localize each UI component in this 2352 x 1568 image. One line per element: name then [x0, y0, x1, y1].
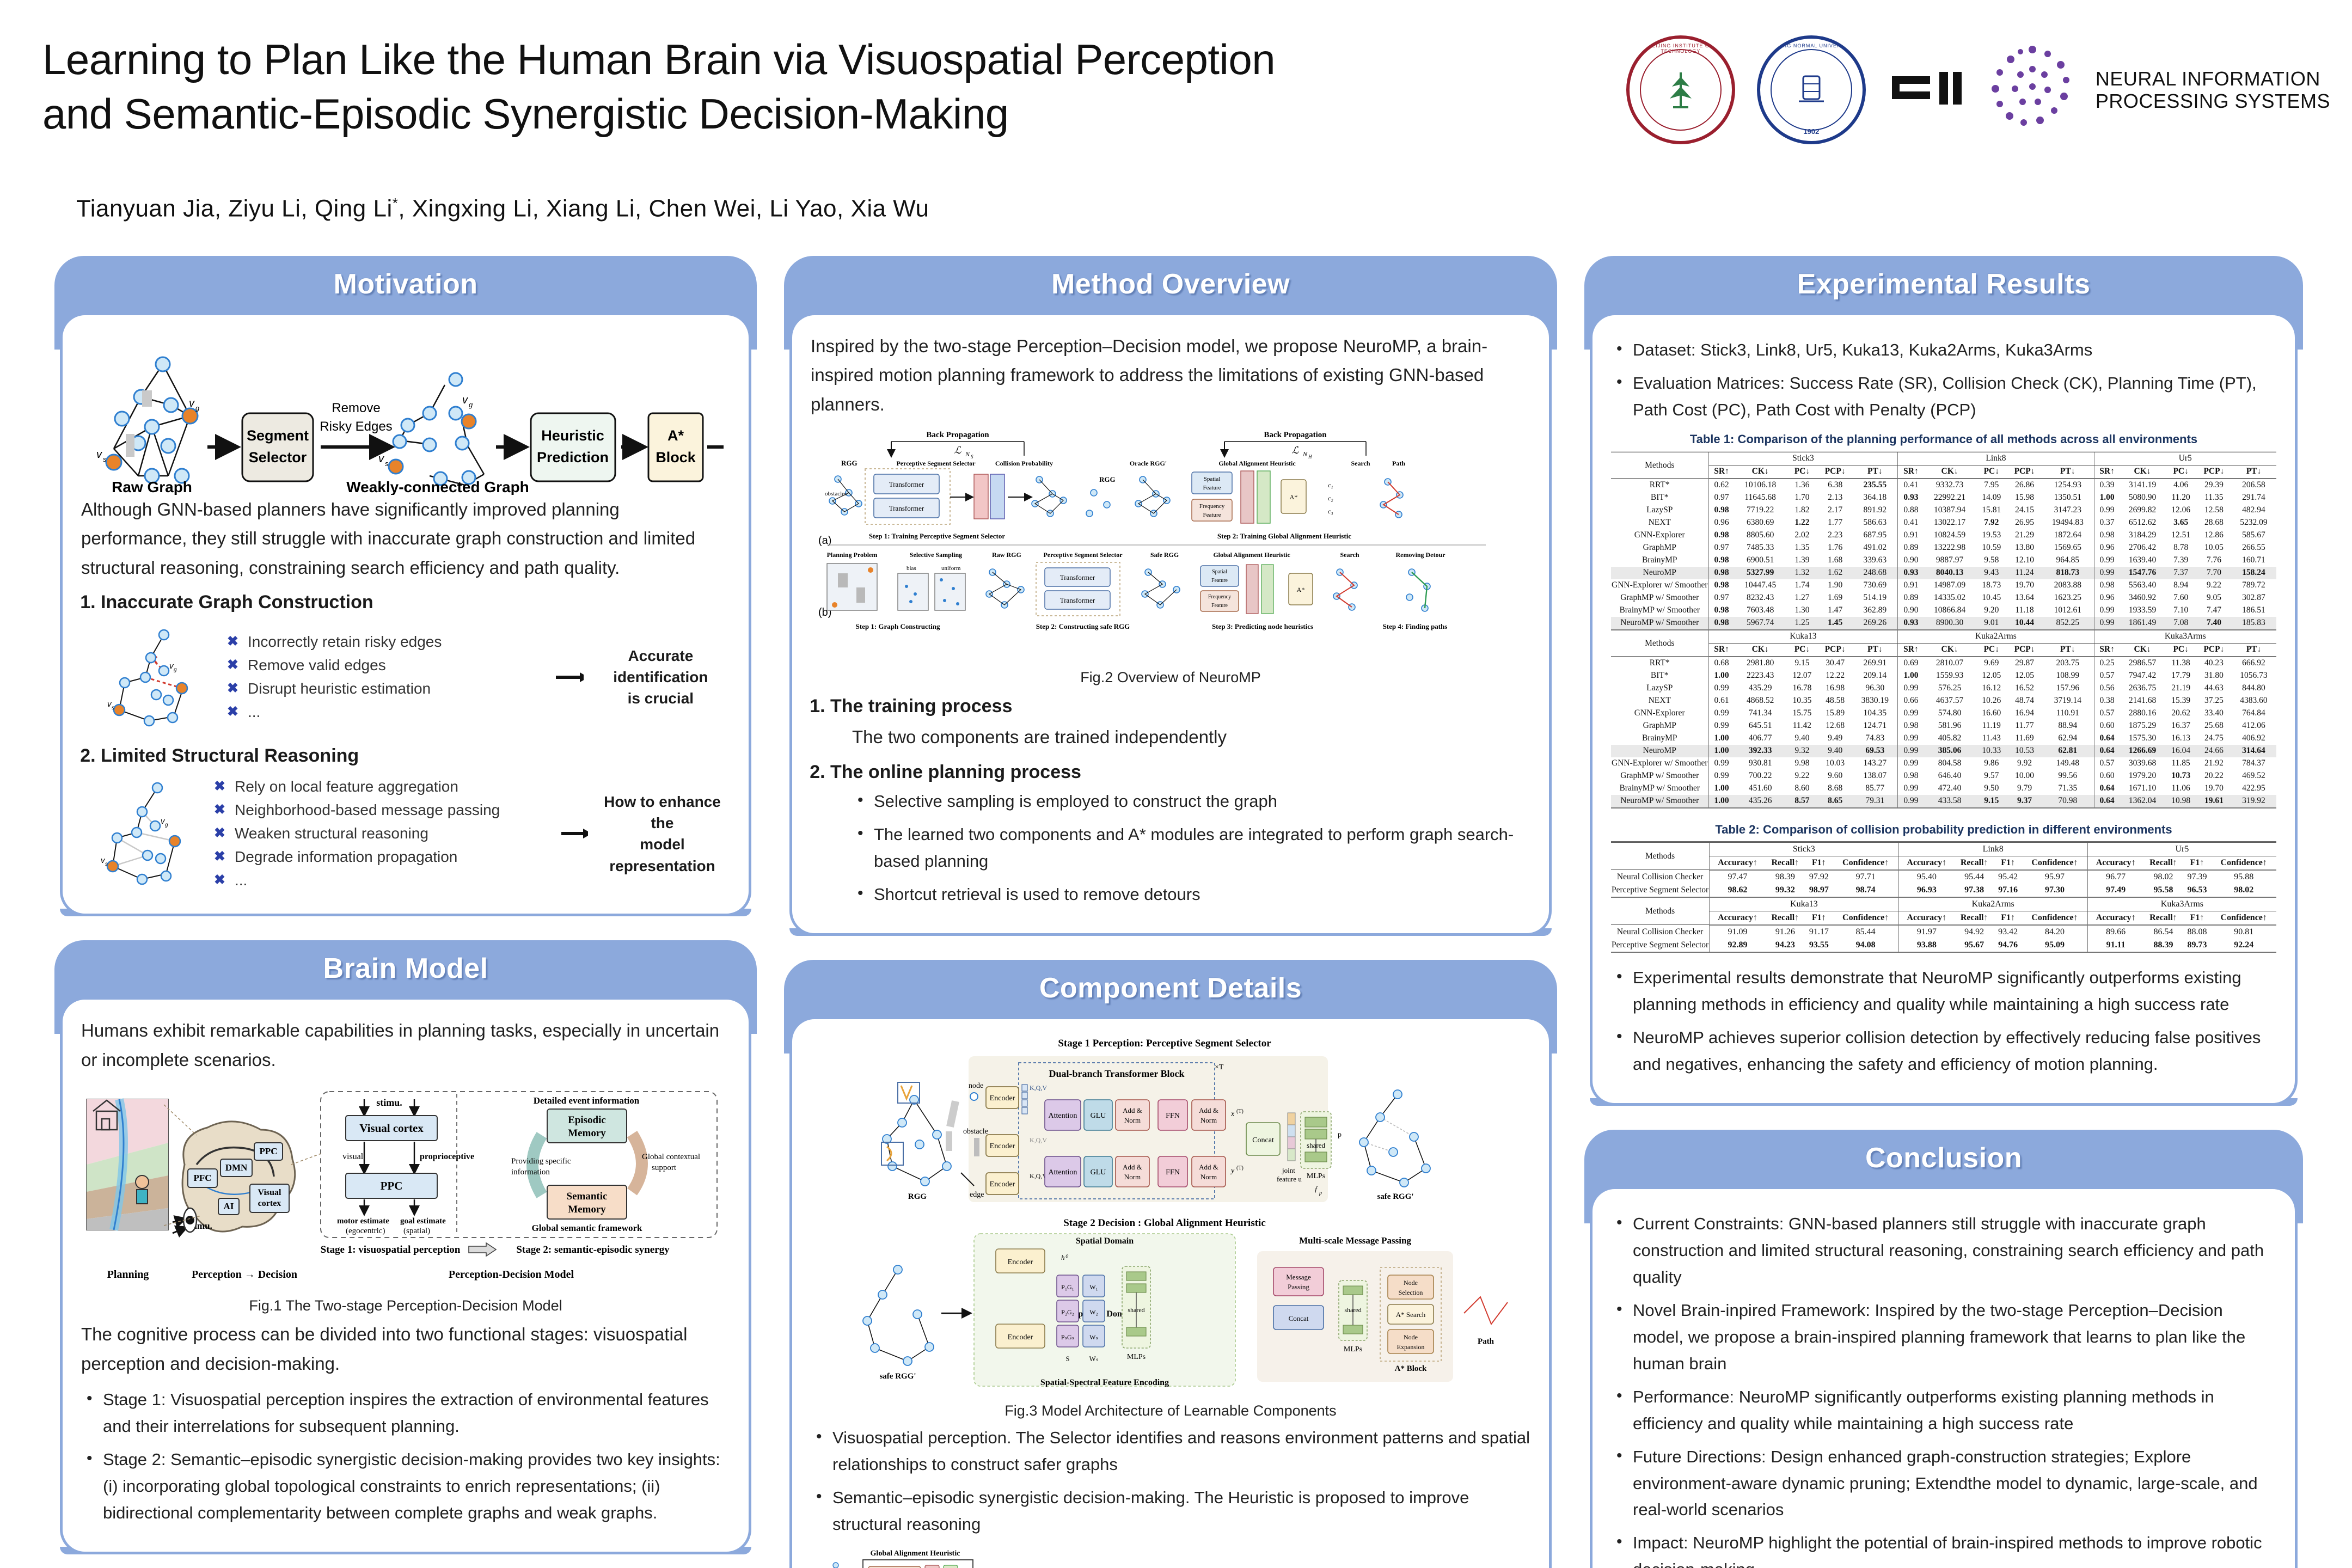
list-item: Stage 1: Visuospatial perception inspire…: [81, 1387, 730, 1440]
fig1-perception-decision-diagram: PFC DMN PPC AI Visual cortex stimu.: [81, 1083, 724, 1290]
value-cell: 0.69: [1898, 657, 1924, 670]
value-cell: 1575.30: [2120, 732, 2165, 745]
astar-line1: A*: [667, 427, 684, 444]
value-cell: 412.06: [2231, 720, 2276, 732]
svg-text:ℒ: ℒ: [954, 445, 962, 456]
svg-text:v: v: [462, 394, 468, 406]
svg-text:Global semantic framework: Global semantic framework: [531, 1223, 642, 1233]
value-cell: 15.89: [1818, 707, 1852, 720]
value-cell: 1979.20: [2120, 770, 2165, 782]
metric-header: PC↓: [1976, 643, 2007, 657]
svg-text:shared: shared: [1344, 1306, 1361, 1314]
dmn-label: DMN: [225, 1162, 248, 1173]
value-cell: 2636.75: [2120, 682, 2165, 695]
value-cell: 19494.83: [2042, 517, 2094, 529]
metric-header: Confidence↑: [2022, 911, 2087, 925]
metric-header: SR↑: [2094, 643, 2120, 657]
value-cell: 0.57: [2094, 670, 2120, 682]
author-list: Tianyuan Jia, Ziyu Li, Qing Li*, Xingxin…: [76, 195, 929, 223]
svg-text:c₂: c₂: [1328, 494, 1333, 502]
value-cell: 1.00: [1708, 670, 1735, 682]
value-cell: 10.73: [2165, 770, 2196, 782]
metric-header: Confidence↑: [1833, 911, 1898, 925]
value-cell: 15.39: [2165, 695, 2196, 707]
value-cell: 0.41: [1898, 517, 1924, 529]
value-cell: 362.89: [1852, 604, 1898, 617]
value-cell: 95.09: [2022, 939, 2087, 952]
svg-text:Detailed event information: Detailed event information: [534, 1095, 640, 1106]
value-cell: 2.17: [1818, 504, 1852, 517]
svg-text:Attention: Attention: [1049, 1112, 1077, 1120]
value-cell: 405.82: [1924, 732, 1975, 745]
value-cell: 97.30: [2022, 884, 2087, 897]
list-item: Disrupt heuristic estimation: [225, 680, 543, 697]
svg-text:Dual-branch Transformer Block: Dual-branch Transformer Block: [1049, 1068, 1184, 1079]
svg-text:N: N: [965, 450, 970, 458]
value-cell: 0.56: [2094, 682, 2120, 695]
env-header: Link8: [1898, 842, 2087, 856]
value-cell: 92.89: [1710, 939, 1766, 952]
value-cell: 0.99: [2094, 617, 2120, 630]
svg-text:RGG: RGG: [1099, 475, 1116, 483]
poster-header: Learning to Plan Like the Human Brain vi…: [0, 0, 2352, 256]
neurips-logo: NEURAL INFORMATION PROCESSING SYSTEMS: [1888, 41, 2330, 139]
method-item-1: The training process: [830, 696, 1530, 717]
value-cell: 10.05: [2197, 542, 2231, 554]
svg-text:Encoder: Encoder: [1008, 1333, 1033, 1342]
value-cell: 1875.29: [2120, 720, 2165, 732]
value-cell: 1.27: [1786, 592, 1818, 604]
env-header: Link8: [1898, 451, 2094, 465]
value-cell: 0.60: [2094, 720, 2120, 732]
svg-text:v: v: [378, 453, 384, 465]
fig2-caption: Fig.2 Overview of NeuroMP: [811, 669, 1530, 686]
neurips-dot-cloud-icon: [1983, 41, 2081, 139]
value-cell: 2880.16: [2120, 707, 2165, 720]
raw-graph-label: Raw Graph: [112, 479, 192, 495]
method-item-2-title: The online planning process: [830, 762, 1081, 782]
method-overview-body: Inspired by the two-stage Perception–Dec…: [789, 313, 1552, 936]
value-cell: 0.93: [1898, 567, 1924, 579]
value-cell: 0.96: [2094, 592, 2120, 604]
method-cell: GNN-Explorer w/ Smoother: [1611, 579, 1708, 592]
svg-text:GLU: GLU: [1091, 1112, 1106, 1120]
pfc-label: PFC: [193, 1173, 211, 1183]
value-cell: 11.38: [2165, 657, 2196, 670]
bit-university-logo: BEIJING INSTITUTE OF TECHNOLOGY: [1626, 35, 1735, 144]
metric-header: PCP↓: [1818, 465, 1852, 479]
value-cell: 29.39: [2197, 479, 2231, 492]
value-cell: 1.39: [1786, 554, 1818, 567]
value-cell: 62.94: [2042, 732, 2094, 745]
value-cell: 97.49: [2087, 884, 2143, 897]
svg-text:Memory: Memory: [568, 1204, 606, 1215]
neurips-wordmark: NEURAL INFORMATION PROCESSING SYSTEMS: [2096, 68, 2330, 113]
column-right: Experimental Results Dataset: Stick3, Li…: [1584, 256, 2303, 1568]
svg-text:Node: Node: [1404, 1279, 1418, 1287]
metric-header: PT↓: [1852, 643, 1898, 657]
value-cell: 97.16: [1994, 884, 2022, 897]
svg-text:obstacles: obstacles: [825, 491, 847, 497]
value-cell: 2223.43: [1735, 670, 1786, 682]
value-cell: 0.99: [1708, 757, 1735, 770]
list-item: The learned two components and A* module…: [852, 822, 1530, 875]
value-cell: 2981.80: [1735, 657, 1786, 670]
svg-text:P₂G₂: P₂G₂: [1061, 1308, 1074, 1316]
svg-text:Feature: Feature: [1203, 512, 1221, 518]
svg-text:shared: shared: [1128, 1306, 1144, 1314]
value-cell: 12.06: [2165, 504, 2196, 517]
svg-text:c₃: c₃: [1328, 507, 1333, 515]
value-cell: 16.12: [1976, 682, 2007, 695]
value-cell: 581.96: [1924, 720, 1975, 732]
method-overview-figure: (a) Back Propagation ℒ N S Back Propagat…: [811, 427, 1530, 661]
value-cell: 11.85: [2165, 757, 2196, 770]
poster-root: Learning to Plan Like the Human Brain vi…: [0, 0, 2352, 1568]
value-cell: 1254.93: [2042, 479, 2094, 492]
column-middle: Method Overview Inspired by the two-stag…: [784, 256, 1557, 1568]
value-cell: 9.57: [1976, 770, 2007, 782]
component-details-bullets: Visuospatial perception. The Selector id…: [811, 1425, 1530, 1538]
value-cell: 10.26: [1976, 695, 2007, 707]
value-cell: 5080.90: [2120, 492, 2165, 504]
value-cell: 730.69: [1852, 579, 1898, 592]
value-cell: 1.69: [1818, 592, 1852, 604]
list-item: ...: [212, 872, 550, 889]
arrow-right-icon: [561, 826, 588, 841]
value-cell: 844.80: [2231, 682, 2276, 695]
value-cell: 91.17: [1805, 925, 1833, 939]
metric-header: F1↑: [1805, 911, 1833, 925]
svg-text:Visual: Visual: [258, 1188, 282, 1197]
list-item: NeuroMP achieves superior collision dete…: [1611, 1025, 2276, 1078]
value-cell: 96.93: [1898, 884, 1955, 897]
value-cell: 0.97: [1708, 492, 1735, 504]
svg-text:Message: Message: [1286, 1273, 1311, 1281]
value-cell: 91.97: [1898, 925, 1955, 939]
conclusion-heading: Conclusion: [1584, 1142, 2303, 1174]
value-cell: 2986.57: [2120, 657, 2165, 670]
heuristic-line1: Heuristic: [541, 427, 604, 444]
env-header: Ur5: [2087, 842, 2276, 856]
svg-text:Add &: Add &: [1123, 1106, 1142, 1114]
value-cell: 269.26: [1852, 617, 1898, 630]
svg-text:Step 3: Predicting node heuris: Step 3: Predicting node heuristics: [1212, 622, 1313, 630]
value-cell: 14987.09: [1924, 579, 1975, 592]
value-cell: 1623.25: [2042, 592, 2094, 604]
stage1-title: Stage 1 Perception: Perceptive Segment S…: [1058, 1038, 1271, 1049]
value-cell: 48.74: [2007, 695, 2042, 707]
value-cell: 9.37: [2007, 795, 2042, 808]
value-cell: 0.89: [1898, 592, 1924, 604]
value-cell: 10.03: [1818, 757, 1852, 770]
metric-header: Recall↑: [1766, 911, 1805, 925]
method-cell: GNN-Explorer w/ Smoother: [1611, 757, 1708, 770]
svg-text:A*: A*: [1290, 493, 1298, 501]
value-cell: 92.24: [2211, 939, 2276, 952]
list-item: Degrade information propagation: [212, 848, 550, 866]
svg-text:g: g: [195, 404, 200, 412]
motivation-row-1: ✕ vg vs: [103, 618, 730, 736]
svg-text:Transformer: Transformer: [1060, 596, 1095, 604]
value-cell: 209.14: [1852, 670, 1898, 682]
value-cell: 10.00: [2007, 770, 2042, 782]
list-item: Dataset: Stick3, Link8, Ur5, Kuka13, Kuk…: [1611, 337, 2276, 364]
method-cell: BIT*: [1611, 670, 1708, 682]
method-cell: GraphMP w/ Smoother: [1611, 592, 1708, 604]
metric-header: Recall↑: [1955, 911, 1994, 925]
value-cell: 3.65: [2165, 517, 2196, 529]
value-cell: 8.78: [2165, 542, 2196, 554]
metric-header: SR↑: [1708, 643, 1735, 657]
value-cell: 0.98: [1708, 529, 1735, 542]
env-header: Kuka13: [1708, 630, 1898, 644]
metric-header: Accuracy↑: [2087, 911, 2143, 925]
motivation-item-2-title: Limited Structural Reasoning: [101, 745, 359, 766]
table-group-header: MethodsStick3Link8Ur5: [1611, 451, 2276, 465]
svg-text:Spatial Domain: Spatial Domain: [1076, 1236, 1134, 1246]
svg-text:A* Search: A* Search: [1396, 1310, 1426, 1319]
motivation-numbered-list: Inaccurate Graph Construction: [89, 592, 730, 613]
motivation-heading: Motivation: [54, 268, 757, 301]
value-cell: 576.25: [1924, 682, 1975, 695]
svg-text:Step 2: Constructing safe RGG: Step 2: Constructing safe RGG: [1036, 622, 1130, 630]
bit-logo-inner: [1640, 49, 1722, 131]
value-cell: 89.66: [2087, 925, 2143, 939]
svg-text:support: support: [652, 1163, 677, 1172]
value-cell: 1639.40: [2120, 554, 2165, 567]
fig2-neuromp-overview: (a) Back Propagation ℒ N S Back Propagat…: [811, 427, 1518, 661]
svg-text:RGG: RGG: [841, 459, 857, 467]
value-cell: 9.60: [1818, 770, 1852, 782]
value-cell: 138.07: [1852, 770, 1898, 782]
value-cell: 4383.60: [2231, 695, 2276, 707]
value-cell: 0.62: [1708, 479, 1735, 492]
value-cell: 1.62: [1818, 567, 1852, 579]
value-cell: 0.25: [2094, 657, 2120, 670]
value-cell: 8.68: [1818, 782, 1852, 795]
value-cell: 104.35: [1852, 707, 1898, 720]
method-cell: Neural Collision Checker: [1611, 870, 1710, 884]
value-cell: 789.72: [2231, 579, 2276, 592]
value-cell: 585.67: [2231, 529, 2276, 542]
svg-text:GLU: GLU: [1091, 1168, 1106, 1177]
list-item: Neighborhood-based message passing: [212, 801, 550, 819]
value-cell: 9.01: [1976, 617, 2007, 630]
svg-text:Spatial: Spatial: [1204, 476, 1221, 482]
metric-header: SR↑: [2094, 465, 2120, 479]
svg-text:Planning Problem: Planning Problem: [827, 551, 878, 559]
motivation-body: v g v s Segment Selector Remove: [60, 313, 751, 916]
value-cell: 10866.84: [1924, 604, 1975, 617]
value-cell: 406.77: [1735, 732, 1786, 745]
svg-text:Path: Path: [1392, 460, 1405, 467]
value-cell: 9.50: [1976, 782, 2007, 795]
value-cell: 0.64: [2094, 782, 2120, 795]
env-header: Kuka13: [1710, 897, 1898, 911]
value-cell: 97.92: [1805, 870, 1833, 884]
experimental-results-bullets: Dataset: Stick3, Link8, Ur5, Kuka13, Kuk…: [1611, 337, 2276, 424]
value-cell: 0.98: [1708, 504, 1735, 517]
metric-header: PC↓: [1976, 465, 2007, 479]
metric-header: PC↓: [2165, 643, 2196, 657]
value-cell: 2810.07: [1924, 657, 1975, 670]
value-cell: 804.58: [1924, 757, 1975, 770]
method-item-2-points: Selective sampling is employed to constr…: [852, 788, 1530, 908]
metric-header: Confidence↑: [2211, 856, 2276, 870]
value-cell: 10447.45: [1735, 579, 1786, 592]
value-cell: 451.60: [1735, 782, 1786, 795]
svg-text:Transformer: Transformer: [889, 504, 924, 512]
value-cell: 3141.19: [2120, 479, 2165, 492]
value-cell: 0.38: [2094, 695, 2120, 707]
table-metric-header: SR↑CK↓PC↓PCP↓PT↓SR↑CK↓PC↓PCP↓PT↓SR↑CK↓PC…: [1611, 465, 2276, 479]
method-cell: BIT*: [1611, 492, 1708, 504]
value-cell: 0.64: [2094, 745, 2120, 757]
svg-text:N: N: [1302, 450, 1308, 458]
svg-text:Safe RGG: Safe RGG: [1150, 551, 1179, 559]
method-cell: Perceptive Segment Selector: [1611, 939, 1710, 952]
value-cell: 16.04: [2165, 745, 2196, 757]
value-cell: 0.41: [1898, 479, 1924, 492]
metric-header: PC↓: [2165, 465, 2196, 479]
value-cell: 7.40: [2197, 617, 2231, 630]
svg-text:Feature: Feature: [1203, 485, 1221, 491]
step1-training-label: Step 1: Training Perceptive Segment Sele…: [869, 532, 1005, 540]
method-cell: NeuroMP: [1611, 745, 1708, 757]
fig3-caption: Fig.3 Model Architecture of Learnable Co…: [811, 1402, 1530, 1419]
value-cell: 472.40: [1924, 782, 1975, 795]
value-cell: 89.73: [2183, 939, 2211, 952]
value-cell: 11.69: [2007, 732, 2042, 745]
value-cell: 4637.57: [1924, 695, 1975, 707]
svg-text:s: s: [112, 705, 114, 711]
value-cell: 0.96: [2094, 542, 2120, 554]
svg-text:W₁: W₁: [1089, 1283, 1098, 1291]
value-cell: 2083.88: [2042, 579, 2094, 592]
value-cell: 96.77: [2087, 870, 2143, 884]
value-cell: 266.55: [2231, 542, 2276, 554]
value-cell: 0.99: [1898, 707, 1924, 720]
results-table-2: MethodsStick3Link8Ur5Accuracy↑Recall↑F1↑…: [1611, 841, 2276, 953]
method-cell: GNN-Explorer: [1611, 707, 1708, 720]
perception-decision-model-label: Perception-Decision Model: [449, 1269, 574, 1281]
env-header: Stick3: [1708, 451, 1898, 465]
value-cell: 891.92: [1852, 504, 1898, 517]
value-cell: 12.07: [1786, 670, 1818, 682]
value-cell: 33.40: [2197, 707, 2231, 720]
svg-text:Node: Node: [1404, 1333, 1418, 1341]
value-cell: 0.68: [1708, 657, 1735, 670]
value-cell: 15.81: [1976, 504, 2007, 517]
value-cell: 19.70: [2007, 579, 2042, 592]
value-cell: 19.61: [2197, 795, 2231, 808]
table-metric-header: Accuracy↑Recall↑F1↑Confidence↑Accuracy↑R…: [1611, 911, 2276, 925]
svg-text:bias: bias: [906, 565, 916, 572]
value-cell: 11.20: [2165, 492, 2196, 504]
value-cell: 9.58: [1976, 554, 2007, 567]
svg-text:c₁: c₁: [1328, 481, 1333, 489]
value-cell: 1012.61: [2042, 604, 2094, 617]
experimental-results-heading: Experimental Results: [1584, 268, 2303, 301]
value-cell: 0.99: [2094, 604, 2120, 617]
method-overview-heading: Method Overview: [784, 268, 1557, 301]
remove-risky-line1: Remove: [332, 401, 380, 415]
list-item: Shortcut retrieval is used to remove det…: [852, 881, 1530, 908]
value-cell: 0.90: [1898, 604, 1924, 617]
value-cell: 16.13: [2165, 732, 2196, 745]
value-cell: 7947.42: [2120, 670, 2165, 682]
list-item: Semantic–episodic synergistic decision-m…: [811, 1485, 1530, 1538]
metric-header: CK↓: [2120, 643, 2165, 657]
method-cell: BrainyMP w/ Smoother: [1611, 782, 1708, 795]
conclusion-bullets: Current Constraints: GNN-based planners …: [1611, 1211, 2276, 1568]
value-cell: 9.79: [2007, 782, 2042, 795]
value-cell: 0.57: [2094, 757, 2120, 770]
value-cell: 3039.68: [2120, 757, 2165, 770]
value-cell: 91.11: [2087, 939, 2143, 952]
weak-graph-label: Weakly-connected Graph: [346, 479, 529, 495]
segment-selector-line2: Selector: [249, 449, 307, 465]
value-cell: 0.91: [1898, 579, 1924, 592]
value-cell: 10.98: [2165, 795, 2196, 808]
table-group-header: MethodsKuka13Kuka2ArmsKuka3Arms: [1611, 897, 2276, 911]
value-cell: 15.75: [1786, 707, 1818, 720]
value-cell: 0.97: [1708, 592, 1735, 604]
authors-part-1: Tianyuan Jia, Ziyu Li, Qing Li: [76, 195, 393, 222]
value-cell: 0.98: [2094, 579, 2120, 592]
value-cell: 9.98: [1786, 757, 1818, 770]
value-cell: 1.32: [1786, 567, 1818, 579]
motivation-callout-2: How to enhance the model representation: [595, 791, 730, 877]
value-cell: 94.08: [1833, 939, 1898, 952]
component-details-body: Stage 1 Perception: Perceptive Segment S…: [789, 1016, 1552, 1568]
value-cell: 0.99: [1898, 782, 1924, 795]
metric-header: CK↓: [1735, 465, 1786, 479]
value-cell: 0.99: [2094, 567, 2120, 579]
svg-text:Transformer: Transformer: [889, 480, 924, 488]
svg-text:Memory: Memory: [568, 1128, 606, 1139]
value-cell: 818.73: [2042, 567, 2094, 579]
metric-header: F1↑: [2183, 856, 2211, 870]
value-cell: 10106.18: [1735, 479, 1786, 492]
method-cell: NeuroMP w/ Smoother: [1611, 795, 1708, 808]
value-cell: 96.30: [1852, 682, 1898, 695]
svg-text:Feature: Feature: [1211, 578, 1228, 584]
value-cell: 1350.51: [2042, 492, 2094, 504]
value-cell: 9.15: [1786, 657, 1818, 670]
value-cell: 13.80: [2007, 542, 2042, 554]
value-cell: 6.38: [1818, 479, 1852, 492]
value-cell: 0.99: [1898, 795, 1924, 808]
motivation-item-1-title: Inaccurate Graph Construction: [101, 592, 373, 612]
svg-text:h⁰: h⁰: [1061, 1253, 1069, 1261]
value-cell: 2.13: [1818, 492, 1852, 504]
method-overview-list-2: The online planning process: [818, 762, 1530, 783]
method-cell: NEXT: [1611, 695, 1708, 707]
value-cell: 9.43: [1976, 567, 2007, 579]
method-cell: GraphMP: [1611, 720, 1708, 732]
svg-text:Concat: Concat: [1252, 1136, 1274, 1144]
value-cell: 95.58: [2143, 884, 2183, 897]
value-cell: 95.97: [2022, 870, 2087, 884]
panel-component-details: Component Details Stage 1 Perception: Pe…: [784, 960, 1557, 1568]
value-cell: 784.37: [2231, 757, 2276, 770]
value-cell: 18.73: [1976, 579, 2007, 592]
planning-label: Planning: [107, 1269, 149, 1281]
value-cell: 0.98: [1708, 617, 1735, 630]
value-cell: 0.89: [1898, 542, 1924, 554]
